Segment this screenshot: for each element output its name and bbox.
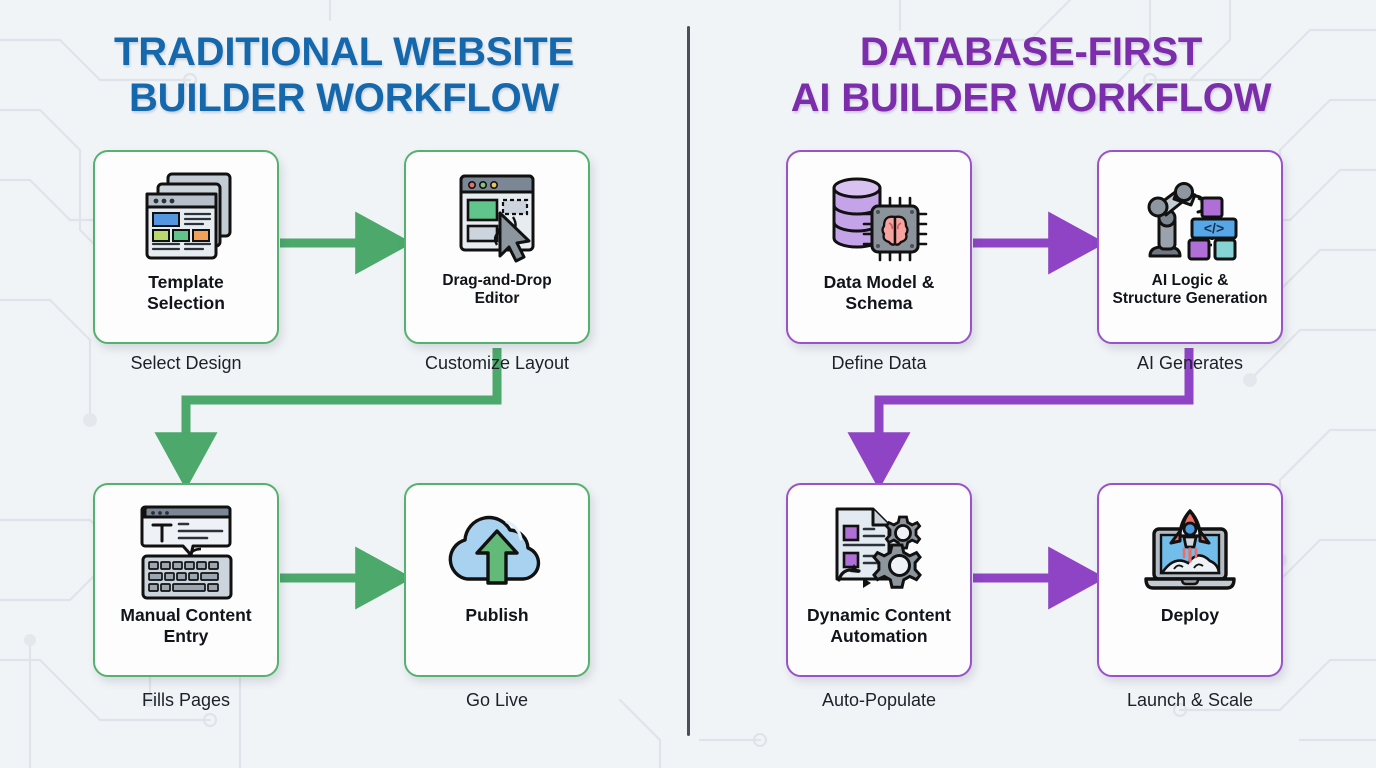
card-title: Publish [461,605,532,626]
card-title: Data Model & Schema [820,272,939,313]
robot-arm-code-icon: </> [1134,166,1246,270]
caption-select-design: Select Design [76,353,296,374]
left-workflow-title: TRADITIONAL WEBSITE BUILDER WORKFLOW [20,30,668,121]
svg-text:</>: </> [1204,220,1224,236]
cloud-upload-icon [441,499,553,603]
card-title: AI Logic & Structure Generation [1108,272,1271,309]
caption-auto-populate: Auto-Populate [769,690,989,711]
text-editor-keyboard-icon [131,499,241,603]
laptop-rocket-icon [1132,499,1248,603]
card-ai-logic-structure-generation[interactable]: </> AI Logic & Structure Generation [1097,150,1283,344]
database-ai-chip-icon [824,166,934,270]
caption-launch-and-scale: Launch & Scale [1080,690,1300,711]
card-title: Dynamic Content Automation [803,605,955,646]
card-dynamic-content-automation[interactable]: Dynamic Content Automation [786,483,972,677]
stacked-templates-icon [134,166,238,270]
card-template-selection[interactable]: Template Selection [93,150,279,344]
caption-fills-pages: Fills Pages [76,690,296,711]
caption-customize-layout: Customize Layout [387,353,607,374]
card-title: Drag-and-Drop Editor [438,272,555,309]
card-title: Manual Content Entry [116,605,255,646]
right-title-line-2: AI BUILDER WORKFLOW [706,76,1356,122]
right-title-line-1: DATABASE-FIRST [706,30,1356,76]
right-workflow-title: DATABASE-FIRST AI BUILDER WORKFLOW [706,30,1356,121]
left-title-line-1: TRADITIONAL WEBSITE [20,30,668,76]
card-title: Deploy [1157,605,1223,626]
card-manual-content-entry[interactable]: Manual Content Entry [93,483,279,677]
card-data-model-schema[interactable]: Data Model & Schema [786,150,972,344]
card-deploy[interactable]: Deploy [1097,483,1283,677]
caption-define-data: Define Data [769,353,989,374]
caption-ai-generates: AI Generates [1080,353,1300,374]
card-title: Template Selection [143,272,229,313]
card-publish[interactable]: Publish [404,483,590,677]
caption-go-live: Go Live [387,690,607,711]
left-title-line-2: BUILDER WORKFLOW [20,76,668,122]
document-gears-icon [823,499,935,603]
section-divider [687,26,690,736]
drag-drop-cursor-icon [445,166,549,270]
card-drag-and-drop-editor[interactable]: Drag-and-Drop Editor [404,150,590,344]
